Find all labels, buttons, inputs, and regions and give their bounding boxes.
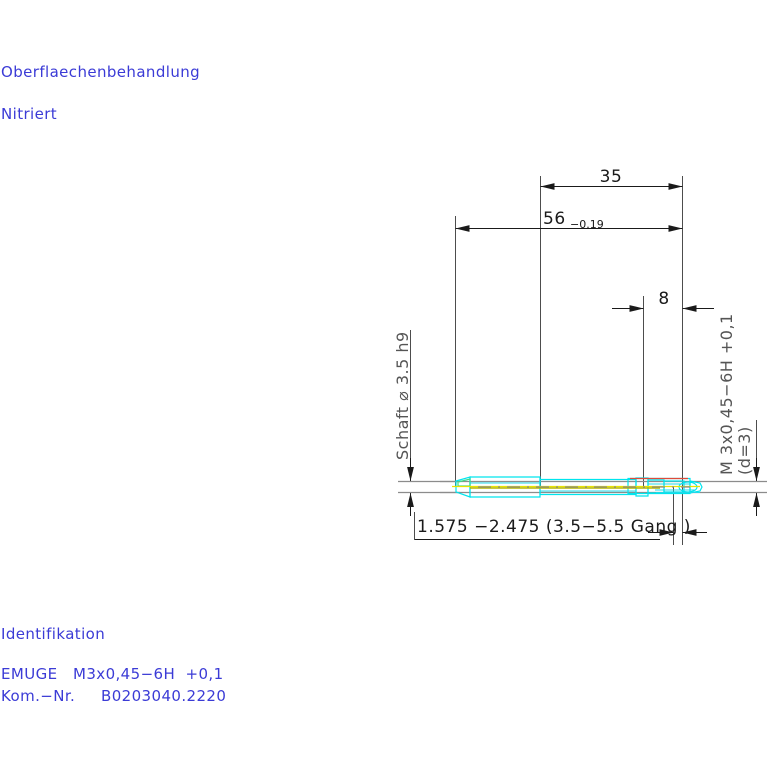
- technical-drawing: 35 56 −0.19 8 Schaft ⌀ 3.5 h9 M 3x: [0, 0, 767, 767]
- thread-label-group: M 3x0,45−6H +0,1 (d=3): [700, 313, 767, 516]
- thread-sublabel: (d=3): [735, 426, 754, 475]
- dimension-8: 8: [612, 289, 714, 309]
- dim-tolerance-56: −0.19: [570, 218, 604, 231]
- chamfer-callout: 1.575 −2.475 (3.5−5.5 Gang ): [414, 512, 707, 540]
- chamfer-label: 1.575 −2.475 (3.5−5.5 Gang ): [417, 517, 691, 537]
- dimension-35: 35: [541, 167, 683, 187]
- drawing-canvas: Oberflaechenbehandlung Nitriert Identifi…: [0, 0, 767, 767]
- tap-tool-body: [452, 477, 702, 497]
- dim-label-56: 56: [543, 209, 566, 229]
- shank-label-group: Schaft ⌀ 3.5 h9: [393, 330, 460, 516]
- thread-label: M 3x0,45−6H +0,1: [717, 313, 736, 475]
- dim-label-35: 35: [600, 167, 623, 187]
- dimension-56: 56 −0.19: [456, 209, 683, 231]
- shank-label: Schaft ⌀ 3.5 h9: [393, 331, 412, 460]
- dim-label-8: 8: [658, 289, 669, 309]
